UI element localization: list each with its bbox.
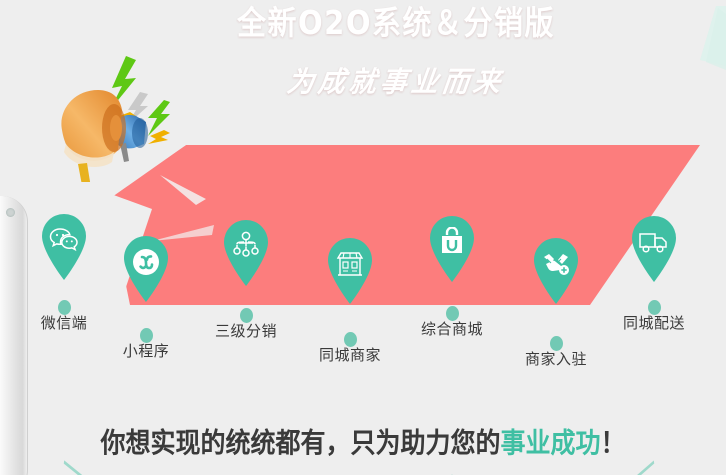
- timeline-node-label: 商家入驻: [508, 348, 604, 369]
- megaphone-icon: [52, 52, 182, 182]
- timeline-node-label: 综合商城: [404, 318, 500, 339]
- timeline-node-merchant-join[interactable]: 商家入驻: [508, 196, 604, 304]
- shopping-bag-icon: [426, 224, 478, 260]
- phone-edge-decoration: [0, 196, 28, 475]
- pin-marker[interactable]: [324, 236, 376, 304]
- delivery-truck-icon: [628, 224, 680, 260]
- footer-text-highlight: 事业成功: [500, 427, 600, 459]
- timeline-node-local-merchant[interactable]: 同城商家: [302, 196, 398, 304]
- pin-marker[interactable]: [426, 214, 478, 282]
- phone-camera-dot: [6, 208, 15, 217]
- timeline-node-mini-program[interactable]: 小程序: [98, 196, 194, 302]
- timeline-node-mall[interactable]: 综合商城: [404, 196, 500, 282]
- storefront-icon: [324, 246, 376, 282]
- distribution-tree-icon: [220, 228, 272, 264]
- wechat-icon: [38, 222, 90, 258]
- footer-tagline: 你想实现的统统都有，只为助力您的事业成功！: [0, 421, 726, 461]
- banner-text-block: 全新O2O系统＆分销版 为成就事业而来: [196, 6, 596, 99]
- pin-marker[interactable]: [38, 212, 90, 280]
- handshake-plus-icon: [530, 246, 582, 282]
- hero-banner: 全新O2O系统＆分销版 为成就事业而来: [0, 0, 726, 185]
- banner-title: 全新O2O系统＆分销版: [196, 6, 596, 42]
- promo-banner-page: 全新O2O系统＆分销版 为成就事业而来: [0, 0, 726, 475]
- footer-text-suffix: ！: [601, 427, 626, 459]
- timeline-node-local-delivery[interactable]: 同城配送: [606, 196, 702, 282]
- mini-program-icon: [120, 244, 172, 280]
- pin-marker[interactable]: [220, 218, 272, 286]
- timeline-node-distribution[interactable]: 三级分销: [198, 196, 294, 286]
- timeline-node-label: 小程序: [98, 340, 194, 361]
- timeline-node-label: 微信端: [16, 312, 112, 333]
- footer-text-plain: 你想实现的统统都有，只为助力您的: [100, 427, 500, 459]
- features-timeline: 微信端 小程序: [0, 196, 726, 396]
- timeline-node-label: 同城配送: [606, 312, 702, 333]
- pin-marker[interactable]: [530, 236, 582, 304]
- banner-subtitle: 为成就事业而来: [193, 59, 598, 100]
- timeline-node-label: 同城商家: [302, 344, 398, 365]
- pin-marker[interactable]: [628, 214, 680, 282]
- pin-marker[interactable]: [120, 234, 172, 302]
- timeline-node-label: 三级分销: [198, 320, 294, 341]
